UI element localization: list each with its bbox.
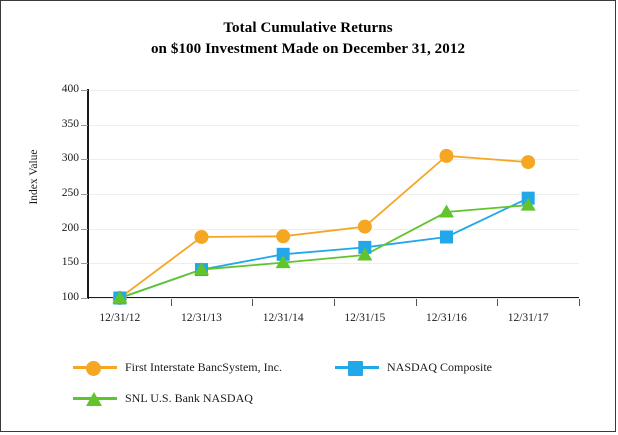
y-axis-tick bbox=[81, 194, 88, 195]
y-axis-tick-label: 350 bbox=[19, 119, 79, 131]
y-axis-tick-label: 250 bbox=[19, 188, 79, 200]
chart-title-line-1: Total Cumulative Returns bbox=[223, 20, 392, 36]
legend-marker-square-icon bbox=[335, 358, 379, 376]
x-axis-tick-label: 12/31/16 bbox=[402, 312, 492, 325]
legend-label: SNL U.S. Bank NASDAQ bbox=[117, 391, 253, 406]
y-axis-tick bbox=[81, 159, 88, 160]
chart-title: Total Cumulative Returns on $100 Investm… bbox=[1, 18, 615, 60]
gridline bbox=[89, 263, 579, 264]
chart-container: Total Cumulative Returns on $100 Investm… bbox=[0, 0, 616, 432]
x-axis-tick-label: 12/31/15 bbox=[320, 312, 410, 325]
x-axis-tick-label: 12/31/13 bbox=[157, 312, 247, 325]
x-axis-tick bbox=[416, 299, 417, 306]
legend-row-2: SNL U.S. Bank NASDAQ bbox=[73, 384, 593, 412]
x-axis-tick bbox=[171, 299, 172, 306]
y-axis-tick-label: 400 bbox=[19, 84, 79, 96]
circle-icon bbox=[86, 361, 101, 376]
legend-marker-triangle-icon bbox=[73, 389, 117, 407]
triangle-icon bbox=[86, 392, 102, 406]
y-axis-labels: 400350300250200150100 bbox=[15, 1, 79, 435]
gridline bbox=[89, 90, 579, 91]
x-axis-tick bbox=[579, 299, 580, 306]
plot-area bbox=[89, 90, 579, 298]
x-axis-tick bbox=[334, 299, 335, 306]
y-axis-tick-label: 100 bbox=[19, 292, 79, 304]
x-axis-tick-label: 12/31/17 bbox=[483, 312, 573, 325]
x-axis-tick-label: 12/31/14 bbox=[238, 312, 328, 325]
legend-label: First Interstate BancSystem, Inc. bbox=[117, 360, 282, 375]
y-axis-tick-label: 150 bbox=[19, 257, 79, 269]
gridline bbox=[89, 229, 579, 230]
legend-marker-circle-icon bbox=[73, 358, 117, 376]
y-axis-tick bbox=[81, 298, 88, 299]
x-axis-tick bbox=[252, 299, 253, 306]
gridline bbox=[89, 159, 579, 160]
y-axis-tick bbox=[81, 263, 88, 264]
legend-item-nasdaq-composite[interactable]: NASDAQ Composite bbox=[335, 353, 492, 381]
gridline bbox=[89, 194, 579, 195]
y-axis-tick-label: 300 bbox=[19, 153, 79, 165]
legend-item-snl-us-bank-nasdaq[interactable]: SNL U.S. Bank NASDAQ bbox=[73, 384, 253, 412]
y-axis-tick bbox=[81, 125, 88, 126]
square-icon bbox=[348, 361, 363, 376]
legend-label: NASDAQ Composite bbox=[379, 360, 492, 375]
gridline bbox=[89, 125, 579, 126]
y-axis-tick bbox=[81, 90, 88, 91]
legend-item-first-interstate-bancsystem[interactable]: First Interstate BancSystem, Inc. bbox=[73, 353, 282, 381]
y-axis-tick-label: 200 bbox=[19, 223, 79, 235]
x-axis-tick bbox=[497, 299, 498, 306]
x-axis-tick-label: 12/31/12 bbox=[75, 312, 165, 325]
y-axis-tick bbox=[81, 229, 88, 230]
legend-row-1: First Interstate BancSystem, Inc. NASDAQ… bbox=[73, 353, 593, 381]
chart-title-line-2: on $100 Investment Made on December 31, … bbox=[1, 39, 615, 60]
chart-legend: First Interstate BancSystem, Inc. NASDAQ… bbox=[73, 353, 593, 415]
